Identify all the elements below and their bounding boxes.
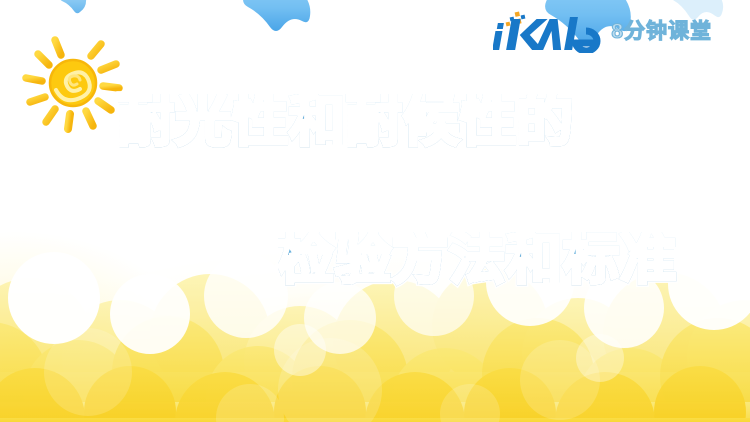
left-glow: [0, 122, 310, 422]
title-line-2: 检验方法和标准: [278, 232, 677, 288]
sun-icon: [22, 33, 126, 133]
cloud-layer-back: [0, 268, 750, 422]
title-line-2-outline: 检验方法和标准: [278, 232, 677, 288]
title-line-1: 耐光性和耐候性的: [118, 94, 574, 150]
kala-logo-icon: [493, 11, 605, 53]
cloud-drip-left: [60, 0, 86, 13]
bottom-yellow-clouds: [0, 222, 750, 422]
cloud-bokeh: [44, 328, 600, 422]
sun-illustration-wrapper: [22, 33, 126, 133]
cloud-drip-center: [243, 0, 310, 31]
brand-logo: 8分钟课堂: [493, 10, 712, 54]
cloud-layer-mid: [0, 316, 750, 422]
title-slide: 8分钟课堂: [0, 0, 750, 422]
logo-tagline: 8分钟课堂: [611, 21, 712, 44]
title-line-1-outline: 耐光性和耐候性的: [118, 94, 574, 150]
bottom-glow: [0, 162, 750, 422]
cloud-layer-front: [0, 366, 750, 422]
cloud-white-bubbles: [8, 238, 750, 382]
